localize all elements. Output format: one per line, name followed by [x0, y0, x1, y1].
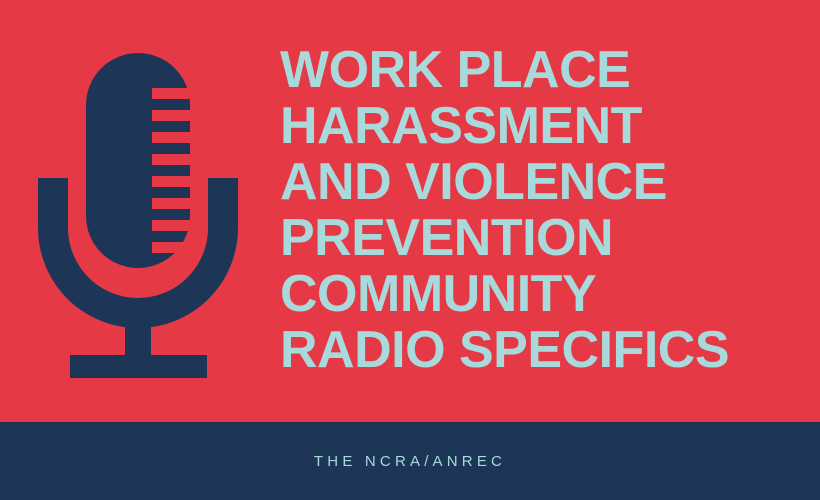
headline-line-5: COMMUNITY — [280, 266, 800, 322]
headline-line-6: RADIO SPECIFICS — [280, 322, 800, 378]
microphone-svg — [30, 40, 250, 390]
headline-line-4: PREVENTION — [280, 210, 800, 266]
headline-line-3: AND VIOLENCE — [280, 154, 800, 210]
page-title: WORK PLACE HARASSMENT AND VIOLENCE PREVE… — [280, 42, 800, 378]
footer-organization-label: THE NCRA/ANREC — [314, 453, 506, 470]
mic-base — [70, 355, 207, 378]
microphone-icon — [30, 40, 250, 390]
footer-bar: THE NCRA/ANREC — [0, 422, 820, 500]
poster-slide: WORK PLACE HARASSMENT AND VIOLENCE PREVE… — [0, 0, 820, 500]
headline-line-2: HARASSMENT — [280, 98, 800, 154]
headline-line-1: WORK PLACE — [280, 42, 800, 98]
mic-stem — [125, 298, 151, 358]
